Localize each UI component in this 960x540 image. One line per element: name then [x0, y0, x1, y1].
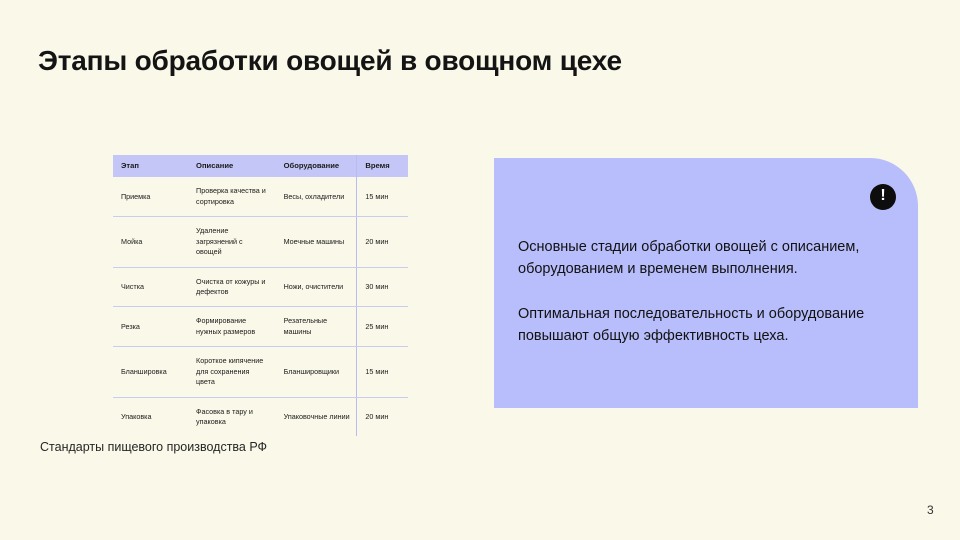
cell-equipment: Упаковочные линии — [276, 397, 357, 436]
table-header-row: Этап Описание Оборудование Время — [113, 155, 408, 177]
callout-paragraph: Основные стадии обработки овощей с описа… — [518, 236, 888, 281]
cell-time: 15 мин — [357, 177, 408, 216]
column-header-stage: Этап — [113, 155, 188, 177]
cell-equipment: Резательные машины — [276, 307, 357, 347]
column-header-description: Описание — [188, 155, 276, 177]
table-row: Бланшировка Короткое кипячение для сохра… — [113, 347, 408, 397]
summary-callout-panel: ! Основные стадии обработки овощей с опи… — [494, 158, 918, 408]
cell-description: Очистка от кожуры и дефектов — [188, 267, 276, 307]
exclamation-icon: ! — [870, 184, 896, 210]
cell-description: Фасовка в тару и упаковка — [188, 397, 276, 436]
cell-time: 20 мин — [357, 217, 408, 267]
source-note: Стандарты пищевого производства РФ — [40, 440, 267, 454]
table-row: Приемка Проверка качества и сортировка В… — [113, 177, 408, 216]
cell-equipment: Моечные машины — [276, 217, 357, 267]
table-row: Резка Формирование нужных размеров Резат… — [113, 307, 408, 347]
page-number: 3 — [927, 503, 934, 517]
cell-description: Проверка качества и сортировка — [188, 177, 276, 216]
callout-text-block: Основные стадии обработки овощей с описа… — [518, 236, 888, 348]
process-table-container: Этап Описание Оборудование Время Приемка… — [113, 155, 408, 436]
table-row: Мойка Удаление загрязнений с овощей Моеч… — [113, 217, 408, 267]
cell-equipment: Весы, охладители — [276, 177, 357, 216]
cell-time: 25 мин — [357, 307, 408, 347]
exclamation-glyph: ! — [880, 188, 885, 204]
callout-paragraph: Оптимальная последовательность и оборудо… — [518, 303, 888, 348]
cell-time: 15 мин — [357, 347, 408, 397]
cell-time: 30 мин — [357, 267, 408, 307]
table-row: Чистка Очистка от кожуры и дефектов Ножи… — [113, 267, 408, 307]
page-title: Этапы обработки овощей в овощном цехе — [38, 45, 622, 77]
cell-stage: Мойка — [113, 217, 188, 267]
cell-time: 20 мин — [357, 397, 408, 436]
column-header-equipment: Оборудование — [276, 155, 357, 177]
cell-description: Удаление загрязнений с овощей — [188, 217, 276, 267]
cell-stage: Бланшировка — [113, 347, 188, 397]
process-table: Этап Описание Оборудование Время Приемка… — [113, 155, 408, 436]
slide-canvas: Этапы обработки овощей в овощном цехе Эт… — [0, 0, 960, 540]
column-header-time: Время — [357, 155, 408, 177]
cell-stage: Чистка — [113, 267, 188, 307]
cell-equipment: Ножи, очистители — [276, 267, 357, 307]
cell-stage: Упаковка — [113, 397, 188, 436]
cell-stage: Резка — [113, 307, 188, 347]
cell-equipment: Бланшировщики — [276, 347, 357, 397]
cell-stage: Приемка — [113, 177, 188, 216]
cell-description: Формирование нужных размеров — [188, 307, 276, 347]
table-row: Упаковка Фасовка в тару и упаковка Упако… — [113, 397, 408, 436]
cell-description: Короткое кипячение для сохранения цвета — [188, 347, 276, 397]
